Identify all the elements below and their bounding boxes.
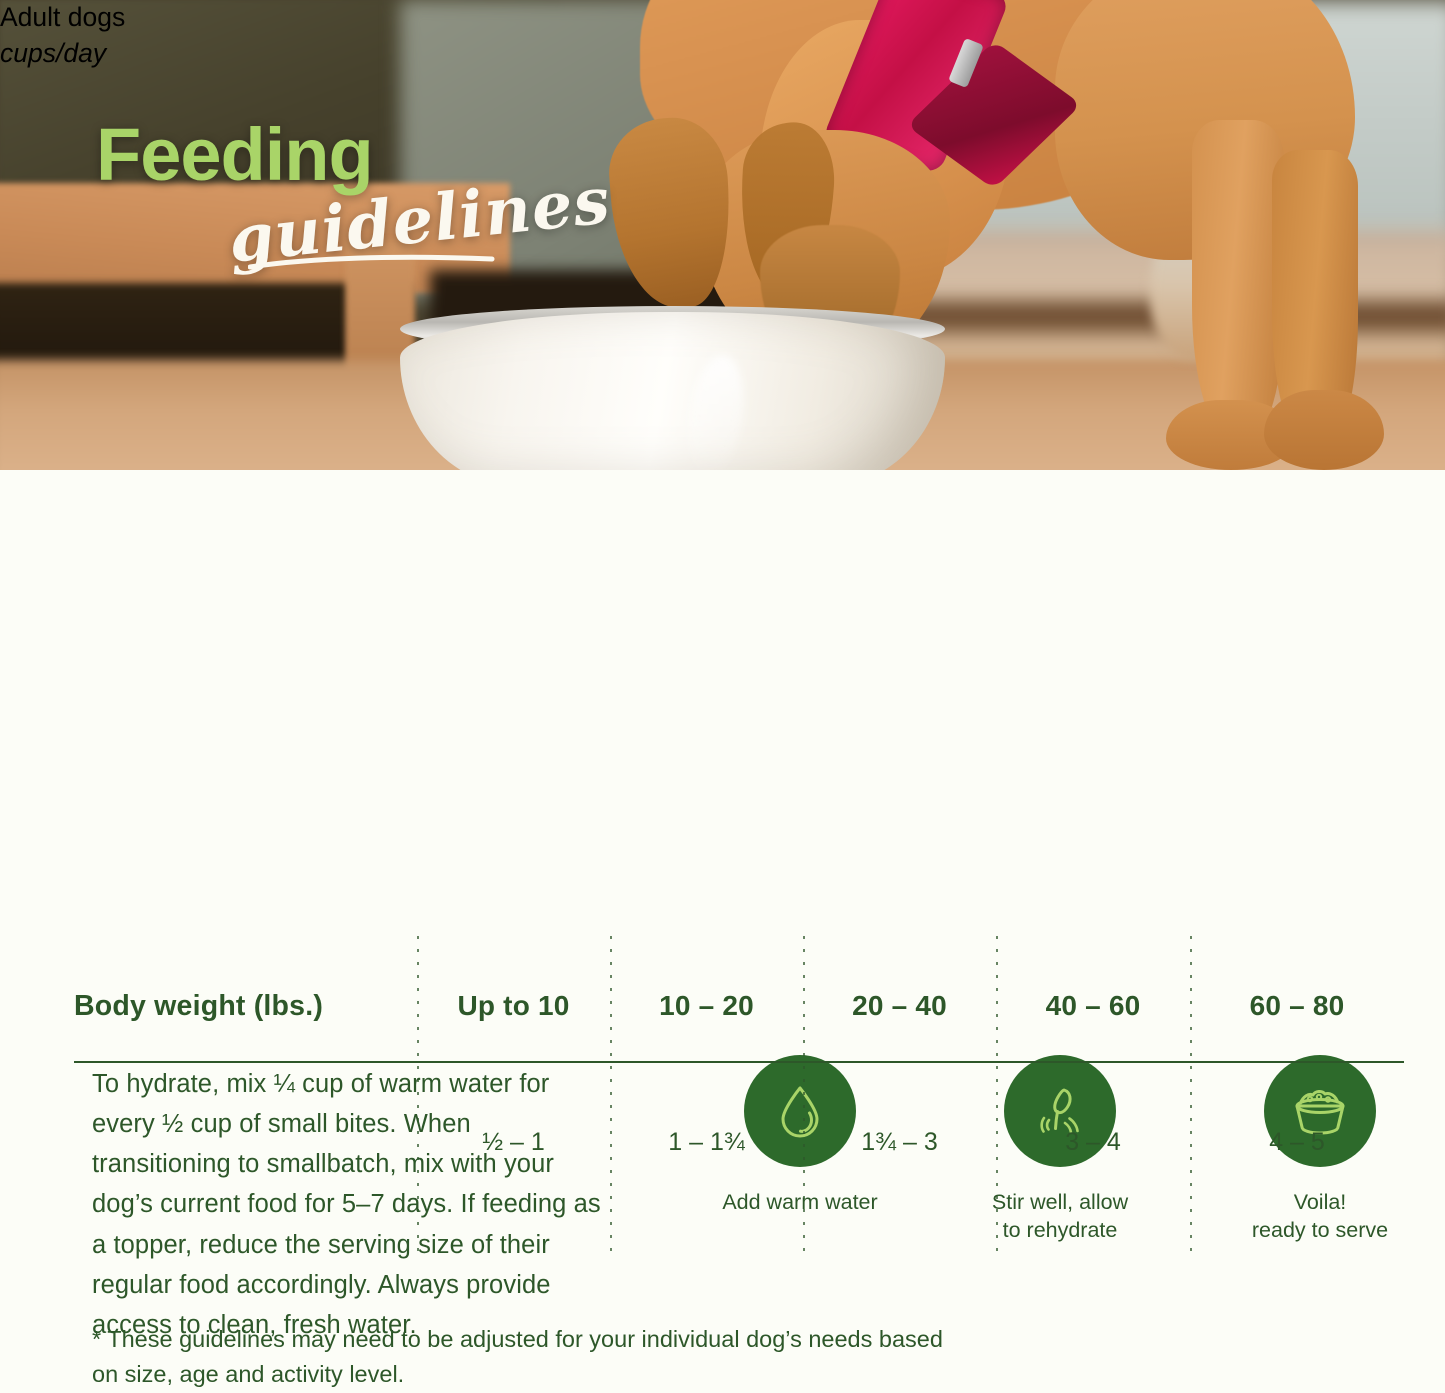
preparation-steps: Add warm water Stir well, allow to rehyd… [700, 1055, 1420, 1244]
dog-food-bowl [400, 312, 945, 470]
intro-paragraph: To hydrate, mix ¼ cup of warm water for … [92, 1064, 612, 1346]
hero-banner: Feeding guidelines [0, 0, 1445, 470]
food-bowl-icon [1289, 1082, 1351, 1140]
page-title: Feeding [96, 118, 373, 192]
content-area: To hydrate, mix ¼ cup of warm water for … [0, 470, 1445, 1378]
subtitle-underline-swash [248, 254, 496, 270]
dog-eating-from-bowl-photo [0, 0, 1445, 470]
step-stir-well: Stir well, allow to rehydrate [960, 1055, 1160, 1244]
step-icon-circle [744, 1055, 856, 1167]
step-label: Voila! ready to serve [1220, 1189, 1420, 1244]
footnote-text: * These guidelines may need to be adjust… [92, 1322, 972, 1393]
step-icon-circle [1264, 1055, 1376, 1167]
dog-paw-back [1264, 390, 1384, 470]
dog-foreleg-front [1192, 120, 1284, 440]
step-label: Add warm water [700, 1189, 900, 1217]
step-label: Stir well, allow to rehydrate [960, 1189, 1160, 1244]
step-add-warm-water: Add warm water [700, 1055, 900, 1244]
step-icon-circle [1004, 1055, 1116, 1167]
step-ready-to-serve: Voila! ready to serve [1220, 1055, 1420, 1244]
water-drop-icon [771, 1082, 829, 1140]
stirring-spoon-icon [1031, 1082, 1089, 1140]
